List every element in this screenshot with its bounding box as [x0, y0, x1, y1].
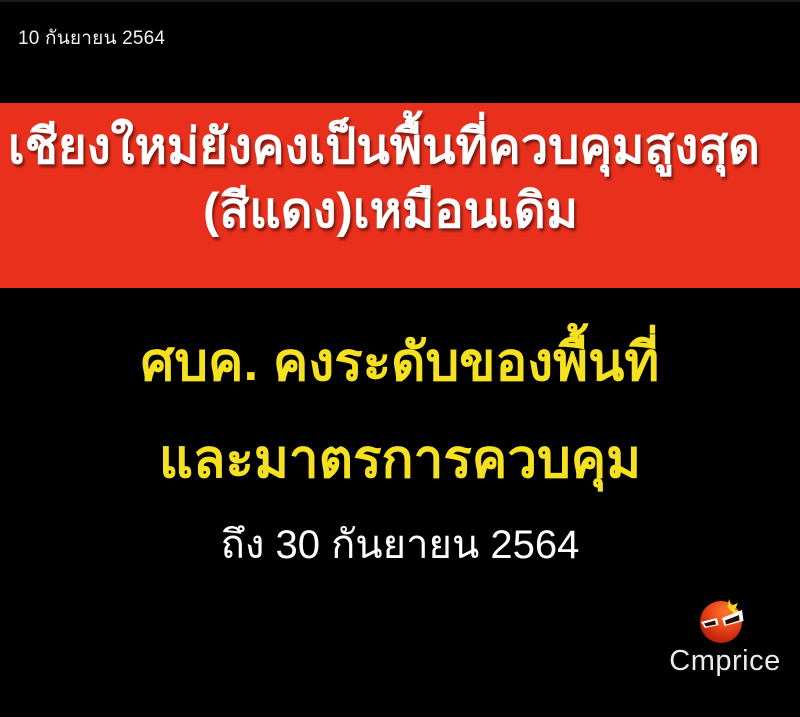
- cmprice-mascot-icon: [696, 596, 746, 646]
- cmprice-wordmark: Cmprice: [660, 644, 790, 678]
- headline-line-2: (สีแดง)เหมือนเดิม: [203, 183, 578, 239]
- publish-date: 10 กันยายน 2564: [18, 28, 165, 50]
- body-line-2: และมาตรการควบคุม: [0, 430, 800, 490]
- poster-canvas: 10 กันยายน 2564 เชียงใหม่ยังคงเป็นพื้นที…: [0, 0, 800, 717]
- headline-line-1: เชียงใหม่ยังคงเป็นพื้นที่ควบคุมสูงสุด: [8, 119, 760, 175]
- body-line-1: ศบค. คงระดับของพื้นที่: [0, 333, 800, 393]
- cmprice-logo: Cmprice: [660, 596, 790, 680]
- valid-until-date: ถึง 30 กันยายน 2564: [0, 521, 800, 569]
- red-headline-band: เชียงใหม่ยังคงเป็นพื้นที่ควบคุมสูงสุด (ส…: [0, 103, 800, 288]
- top-divider: [0, 0, 800, 2]
